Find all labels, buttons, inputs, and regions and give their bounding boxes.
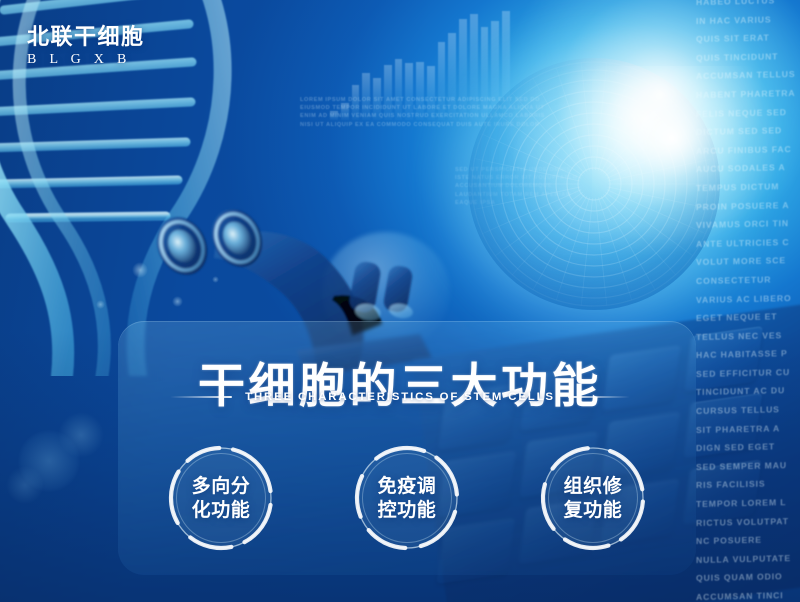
decor-text-line: ACCUMSAN TELLUS — [692, 65, 800, 86]
decor-text-line: TELLUS NEC VES — [692, 326, 800, 347]
decor-text-line: FELIS NEQUE SED — [692, 102, 800, 123]
feature-label-line1: 组织修 — [564, 474, 623, 498]
decor-text-line: EGET NEQUE ET — [692, 307, 800, 328]
feature-label-line1: 免疫调 — [378, 474, 437, 498]
feature-circle-3[interactable]: 组织修复功能 — [537, 442, 649, 554]
decor-text-line: TEMPUS DICTUM — [692, 177, 800, 198]
decor-text-line: ARCU FINIBUS FAC — [692, 140, 800, 161]
feature-label-line1: 多向分 — [192, 474, 251, 498]
page-title: 干细胞的三大功能 — [0, 362, 800, 411]
brand-logo[interactable]: 北联干细胞 B L G X B — [27, 26, 145, 68]
decor-text-line: NC POSUERE — [692, 530, 800, 551]
feature-circle-label: 免疫调控功能 — [378, 474, 437, 523]
decor-text-line: TEMPOR LOREM L — [692, 493, 800, 514]
decor-text-line: QUIS TINCIDUNT — [692, 47, 800, 68]
feature-label-line2: 化功能 — [192, 498, 251, 522]
decor-text-line: VARIUS AC LIBERO — [692, 288, 800, 309]
decor-text-line: VIVAMUS ORCI TIN — [692, 214, 800, 235]
feature-circle-label: 组织修复功能 — [564, 474, 623, 523]
decor-text-line: ACCUMSAN TINCI — [692, 586, 800, 602]
decor-text-line: CONSECTETUR — [692, 270, 800, 291]
feature-label-line2: 复功能 — [564, 498, 623, 522]
feature-label-line2: 控功能 — [378, 498, 437, 522]
subtitle-rule-right — [568, 396, 630, 398]
decor-text-line: QUIS QUAM ODIO — [692, 567, 800, 588]
page-subtitle: THREE CHARACTERISTICS OF STEM CELLS — [245, 391, 555, 403]
subtitle-rule-left — [170, 396, 232, 398]
subtitle-row: THREE CHARACTERISTICS OF STEM CELLS — [0, 391, 800, 403]
decor-text-line: PROIN POSUERE A — [692, 195, 800, 216]
decor-text-line: RIS FACILISIS — [692, 474, 800, 495]
decor-text-line: DIGN SED EGET — [692, 437, 800, 458]
decor-right-text-column: HABEO LUCTUSIN HAC VARIUSQUIS SIT ERATQU… — [692, 0, 800, 602]
decor-text-line: NULLA VULPUTATE — [692, 549, 800, 570]
decor-text-line: VOLUT MORE SCE — [692, 251, 800, 272]
logo-chinese-name: 北联干细胞 — [27, 26, 145, 50]
decor-text-line: AUCU SODALES A — [692, 158, 800, 179]
decor-text-line: IN HAC VARIUS — [692, 9, 800, 30]
logo-latin-initials: B L G X B — [27, 52, 145, 67]
feature-circles-row: 多向分化功能免疫调控功能组织修复功能 — [118, 438, 696, 558]
feature-circle-1[interactable]: 多向分化功能 — [165, 442, 277, 554]
decor-text-line: RICTUS VOLUTPAT — [692, 511, 800, 532]
decor-text-line: DICTUM SED SED — [692, 121, 800, 142]
feature-circle-2[interactable]: 免疫调控功能 — [351, 442, 463, 554]
poster-root: LOREM IPSUM DOLOR SIT AMET CONSECTETUR A… — [0, 0, 800, 602]
decor-text-line: ANTE ULTRICIES C — [692, 233, 800, 254]
decor-text-line: SIT PHARETRA A — [692, 419, 800, 440]
decor-text-line: HABENT PHARETRA — [692, 84, 800, 105]
decor-text-line: SED SEMPER MAU — [692, 456, 800, 477]
feature-circle-label: 多向分化功能 — [192, 474, 251, 523]
decor-text-line: QUIS SIT ERAT — [692, 28, 800, 49]
